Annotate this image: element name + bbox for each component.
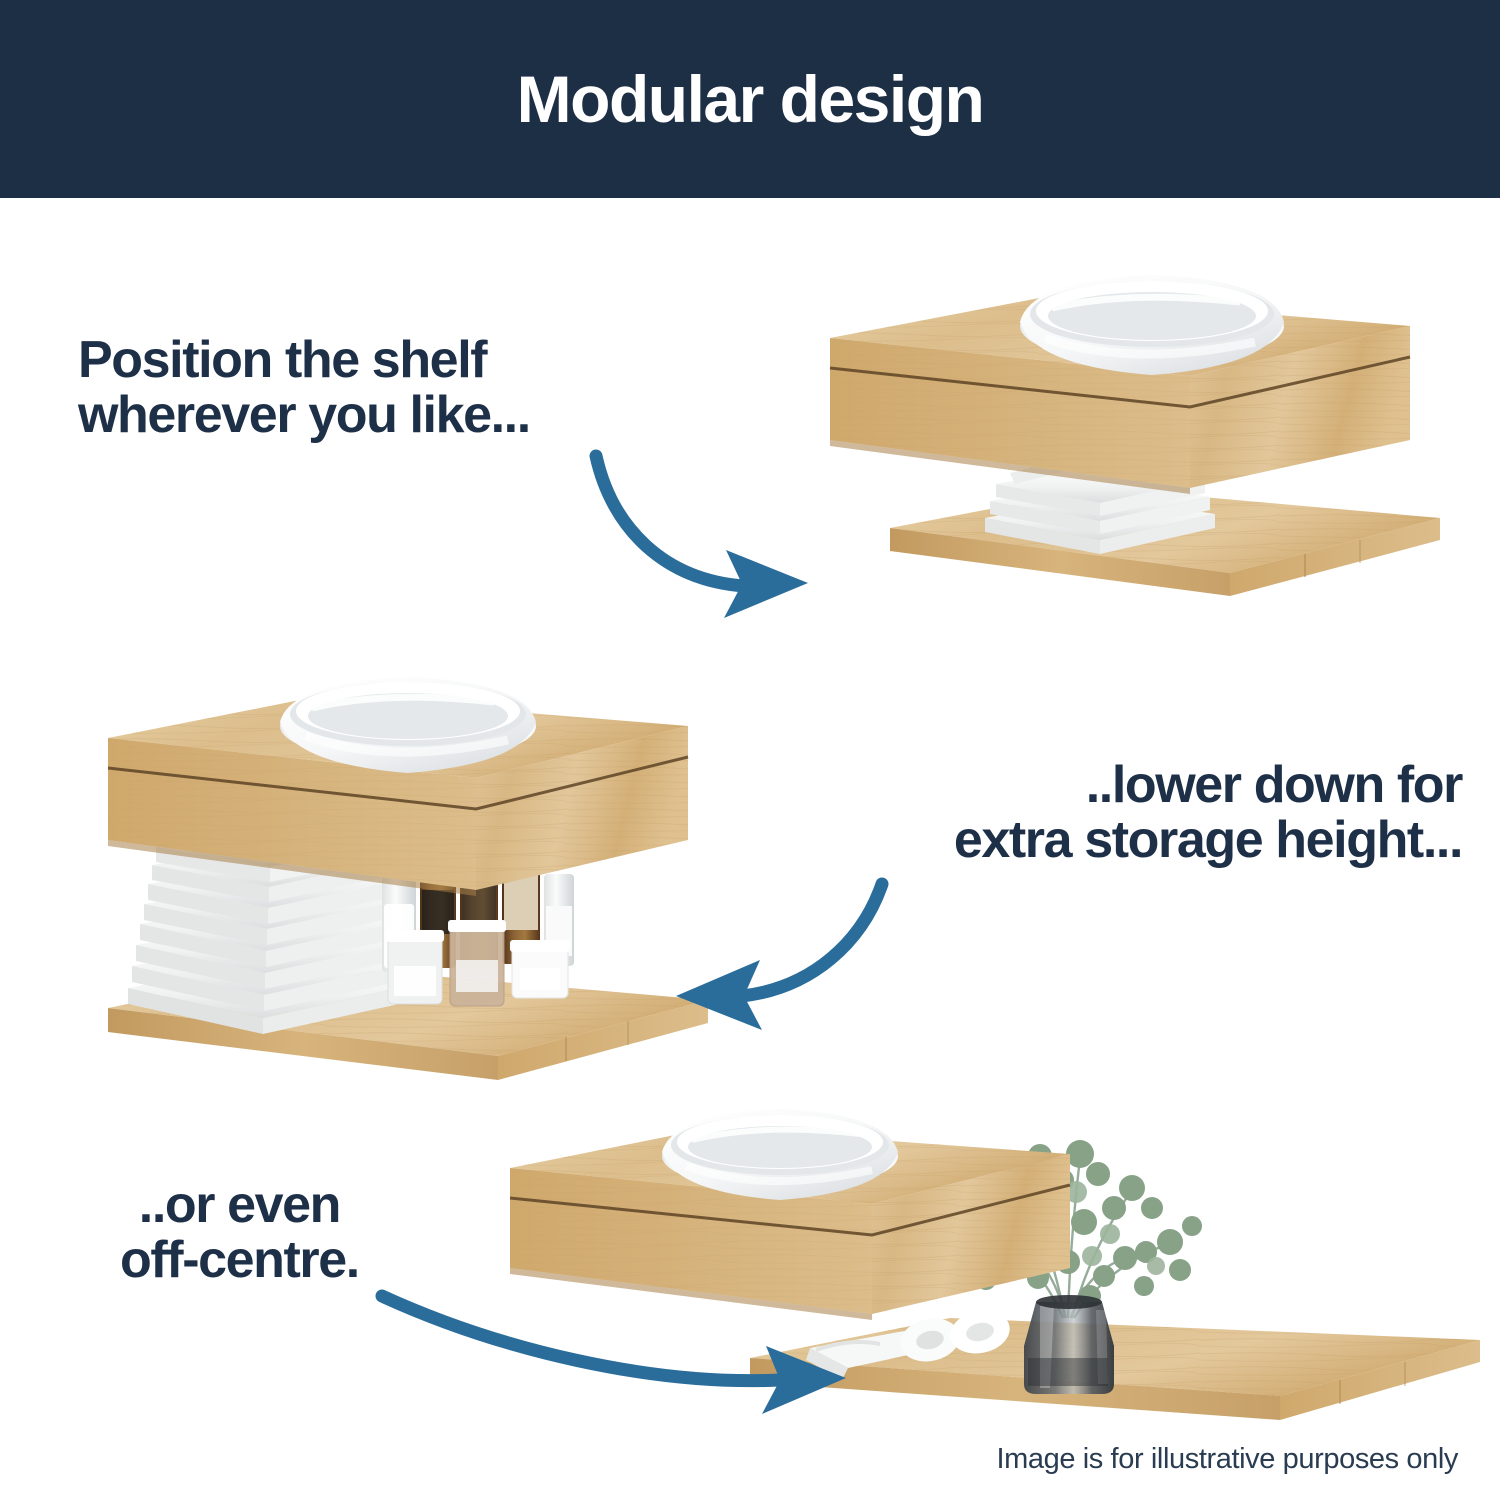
oak-floating-shelf: [750, 1318, 1480, 1420]
header-banner: Modular design: [0, 0, 1500, 198]
product-scene-shelf-lowered: [88, 568, 728, 1088]
page-title: Modular design: [517, 61, 984, 137]
glass-storage-jars: [386, 920, 570, 1006]
product-scene-shelf-off-centre: [480, 1028, 1480, 1448]
product-scene-shelf-below: [800, 218, 1440, 668]
callout-text-off-centre: ..or even off-centre.: [120, 1178, 359, 1288]
illustration-stage: Position the shelf wherever you like... …: [0, 198, 1500, 1500]
disclaimer-text: Image is for illustrative purposes only: [997, 1443, 1459, 1476]
callout-text-position-shelf: Position the shelf wherever you like...: [78, 333, 530, 443]
callout-text-lower-down: ..lower down for extra storage height...: [954, 758, 1462, 868]
